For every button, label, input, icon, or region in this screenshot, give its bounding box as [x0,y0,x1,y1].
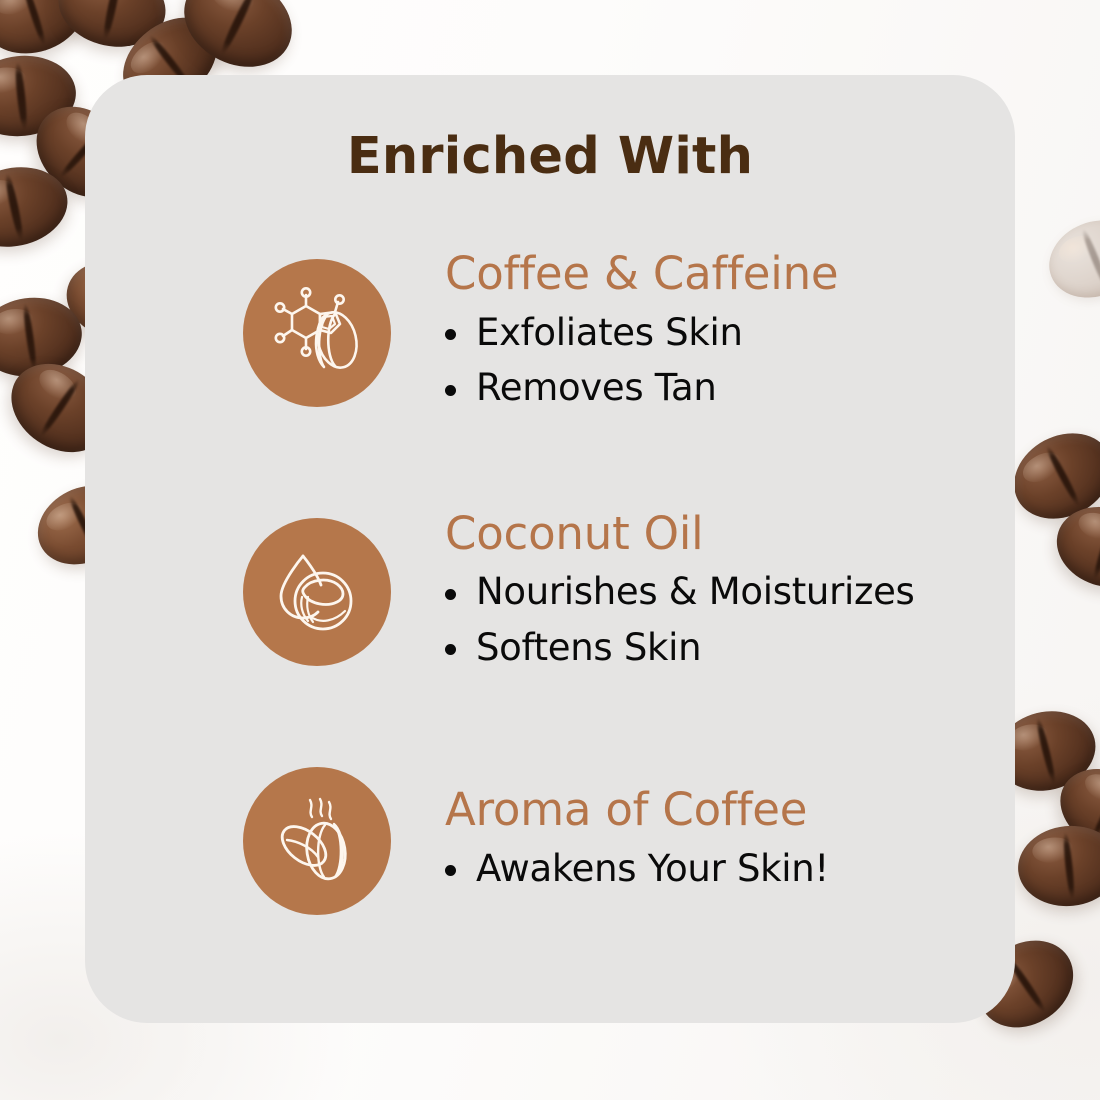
list-item: Softens Skin [445,620,915,676]
ingredient-row-coffee-caffeine[interactable]: Coffee & Caffeine Exfoliates Skin Remove… [243,250,987,416]
list-item: Nourishes & Moisturizes [445,564,915,620]
ingredient-text-block: Coconut Oil Nourishes & Moisturizes Soft… [445,510,915,676]
ingredient-benefits: Nourishes & Moisturizes Softens Skin [445,564,915,675]
ingredient-benefits: Exfoliates Skin Removes Tan [445,305,838,416]
list-item: Exfoliates Skin [445,305,838,361]
enriched-with-card: Enriched With [85,75,1015,1023]
ingredient-list: Coffee & Caffeine Exfoliates Skin Remove… [243,250,987,915]
ingredient-heading: Coffee & Caffeine [445,250,838,299]
aroma-coffee-beans-icon [243,767,391,915]
ingredient-heading: Aroma of Coffee [445,786,829,835]
list-item: Awakens Your Skin! [445,841,829,897]
ingredient-heading: Coconut Oil [445,510,915,559]
ingredient-row-aroma-of-coffee[interactable]: Aroma of Coffee Awakens Your Skin! [243,767,987,915]
list-item: Removes Tan [445,360,838,416]
ingredient-row-coconut-oil[interactable]: Coconut Oil Nourishes & Moisturizes Soft… [243,510,987,676]
ingredient-text-block: Aroma of Coffee Awakens Your Skin! [445,786,829,896]
ingredient-text-block: Coffee & Caffeine Exfoliates Skin Remove… [445,250,838,416]
coffee-bean [1038,207,1100,311]
caffeine-molecule-coffee-bean-icon [243,259,391,407]
coffee-bean [1014,821,1100,911]
page-title: Enriched With [85,127,1015,186]
infographic-stage: Enriched With [0,0,1100,1100]
ingredient-benefits: Awakens Your Skin! [445,841,829,897]
coconut-oil-droplet-icon [243,518,391,666]
